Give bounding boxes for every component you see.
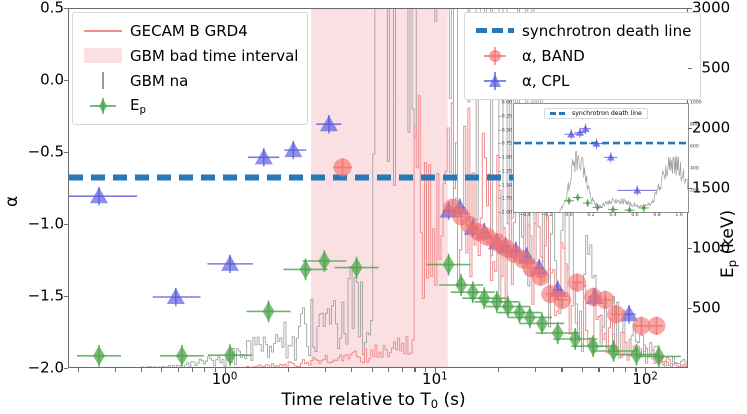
data-point-circle — [607, 305, 625, 323]
diamond-marker-icon — [80, 97, 126, 115]
inset-y-tick-label: −2.00 — [498, 212, 512, 217]
x-tick-mark-minor — [178, 368, 179, 372]
x-tick-mark-minor — [288, 368, 289, 372]
data-point-circle — [568, 274, 586, 292]
inset-secondary-y-tick-label: 1000 — [690, 102, 702, 107]
x-tick-mark-major — [645, 368, 646, 374]
line-swatch-icon — [80, 22, 126, 40]
legend-item-gecam[interactable]: GECAM B GRD4 — [80, 18, 298, 43]
inset-x-tick-label: 0.2 — [587, 214, 594, 219]
inset-axis-ticks: 0.00−0.25−0.50−0.75−1.00−1.25−1.50−1.75−… — [514, 104, 688, 212]
inset-x-tick-label: −0.4 — [519, 214, 530, 219]
data-point-diamond — [262, 301, 274, 321]
inset-y-tick-label: −0.50 — [498, 129, 512, 134]
data-point-triangle — [167, 288, 185, 304]
data-point-circle — [553, 291, 571, 309]
secondary-y-tick-mark — [688, 308, 692, 309]
x-tick-mark-minor — [215, 368, 216, 372]
legend-item-band[interactable]: α, BAND — [472, 43, 691, 68]
inset-y-tick-label: −1.50 — [498, 184, 512, 189]
data-point-diamond — [513, 303, 525, 323]
data-point-diamond — [176, 346, 188, 366]
inset-plot: synchrotron death line 0.00−0.25−0.50−0.… — [513, 103, 689, 213]
x-tick-mark-minor — [141, 368, 142, 372]
data-point-diamond — [502, 297, 514, 317]
legend-item-gbm-na[interactable]: GBM na — [80, 68, 298, 93]
x-tick-mark-minor — [613, 368, 614, 372]
x-tick-mark-minor — [414, 368, 415, 372]
x-tick-mark-minor — [115, 368, 116, 372]
x-tick-mark-minor — [388, 368, 389, 372]
legend-label-ep: Ep — [126, 96, 146, 116]
legend-item-cpl[interactable]: α, CPL — [472, 68, 691, 93]
inset-x-tick-label: −0.2 — [541, 214, 552, 219]
legend-item-death-line[interactable]: synchrotron death line — [472, 18, 691, 43]
inset-y-tick-label: −0.75 — [498, 143, 512, 148]
inset-x-tick-label: 0.6 — [631, 214, 638, 219]
data-point-triangle — [90, 187, 108, 203]
legend-label-cpl: α, CPL — [518, 72, 569, 90]
x-tick-mark-minor — [598, 368, 599, 372]
figure-root: α Ep (keV) Time relative to T0 (s) 0.50.… — [0, 0, 747, 414]
data-point-triangle — [221, 255, 239, 271]
secondary-y-tick-mark — [688, 248, 692, 249]
tick-swatch-icon — [80, 72, 126, 90]
x-tick-mark-minor — [372, 368, 373, 372]
data-point-diamond — [608, 341, 620, 361]
x-tick-label: 102 — [632, 372, 658, 387]
inset-x-tick-label: 0.8 — [653, 214, 660, 219]
triangle-marker-icon — [472, 72, 518, 90]
dashed-line-icon — [472, 22, 518, 40]
data-point-diamond — [93, 346, 105, 366]
x-tick-mark-minor — [625, 368, 626, 372]
data-point-diamond — [300, 259, 312, 279]
inset-y-tick-label: 0.00 — [502, 102, 512, 107]
x-tick-mark-minor — [635, 368, 636, 372]
x-tick-mark-major — [225, 368, 226, 374]
x-tick-mark-minor — [535, 368, 536, 372]
legend-left[interactable]: GECAM B GRD4 GBM bad time interval GBM n… — [72, 12, 308, 125]
inset-y-tick-label: −1.25 — [498, 170, 512, 175]
inset-y-tick-label: −1.00 — [498, 157, 512, 162]
data-point-circle — [647, 317, 665, 335]
legend-right[interactable]: synchrotron death line α, BAND α, CPL — [464, 12, 701, 100]
data-point-triangle — [255, 148, 273, 164]
x-tick-mark-minor — [402, 368, 403, 372]
data-point-diamond — [478, 288, 490, 308]
secondary-y-tick-mark — [688, 68, 692, 69]
inset-y-tick-label: −1.75 — [498, 198, 512, 203]
x-tick-mark-minor — [161, 368, 162, 372]
data-point-circle — [532, 268, 550, 286]
legend-label-bad-time: GBM bad time interval — [126, 47, 298, 65]
x-tick-mark-minor — [561, 368, 562, 372]
circle-marker-icon — [472, 47, 518, 65]
band-swatch-icon — [80, 47, 126, 65]
inset-secondary-y-tick-label: 400 — [690, 168, 699, 173]
legend-item-ep[interactable]: Ep — [80, 93, 298, 118]
x-tick-label: 101 — [422, 372, 448, 387]
data-point-circle — [334, 158, 352, 176]
x-tick-mark-minor — [204, 368, 205, 372]
x-tick-mark-major — [435, 368, 436, 374]
inset-y-tick-label: −0.25 — [498, 115, 512, 120]
data-point-triangle — [284, 141, 302, 157]
x-tick-mark-minor — [78, 368, 79, 372]
x-tick-mark-minor — [582, 368, 583, 372]
legend-label-death-line: synchrotron death line — [518, 22, 691, 40]
x-tick-mark-minor — [425, 368, 426, 372]
data-point-diamond — [552, 323, 564, 343]
secondary-y-tick-mark — [688, 188, 692, 189]
data-point-circle — [596, 291, 614, 309]
inset-x-tick-label: 1.0 — [675, 214, 682, 219]
inset-x-tick-label: 0.0 — [565, 214, 572, 219]
x-tick-mark-minor — [351, 368, 352, 372]
inset-secondary-y-tick-label: 600 — [690, 146, 699, 151]
secondary-y-tick-mark — [688, 8, 692, 9]
x-tick-mark-minor — [192, 368, 193, 372]
data-point-diamond — [630, 345, 642, 365]
data-point-diamond — [524, 307, 536, 327]
inset-x-tick-label: 0.4 — [609, 214, 616, 219]
secondary-y-tick-mark — [688, 128, 692, 129]
x-tick-mark-minor — [325, 368, 326, 372]
legend-label-gbm-na: GBM na — [126, 72, 188, 90]
data-point-diamond — [536, 313, 548, 333]
x-tick-mark-minor — [498, 368, 499, 372]
x-tick-label: 100 — [212, 372, 238, 387]
inset-secondary-y-tick-label: 200 — [690, 190, 699, 195]
legend-label-band: α, BAND — [518, 47, 585, 65]
legend-label-gecam: GECAM B GRD4 — [126, 22, 248, 40]
legend-item-bad-time[interactable]: GBM bad time interval — [80, 43, 298, 68]
